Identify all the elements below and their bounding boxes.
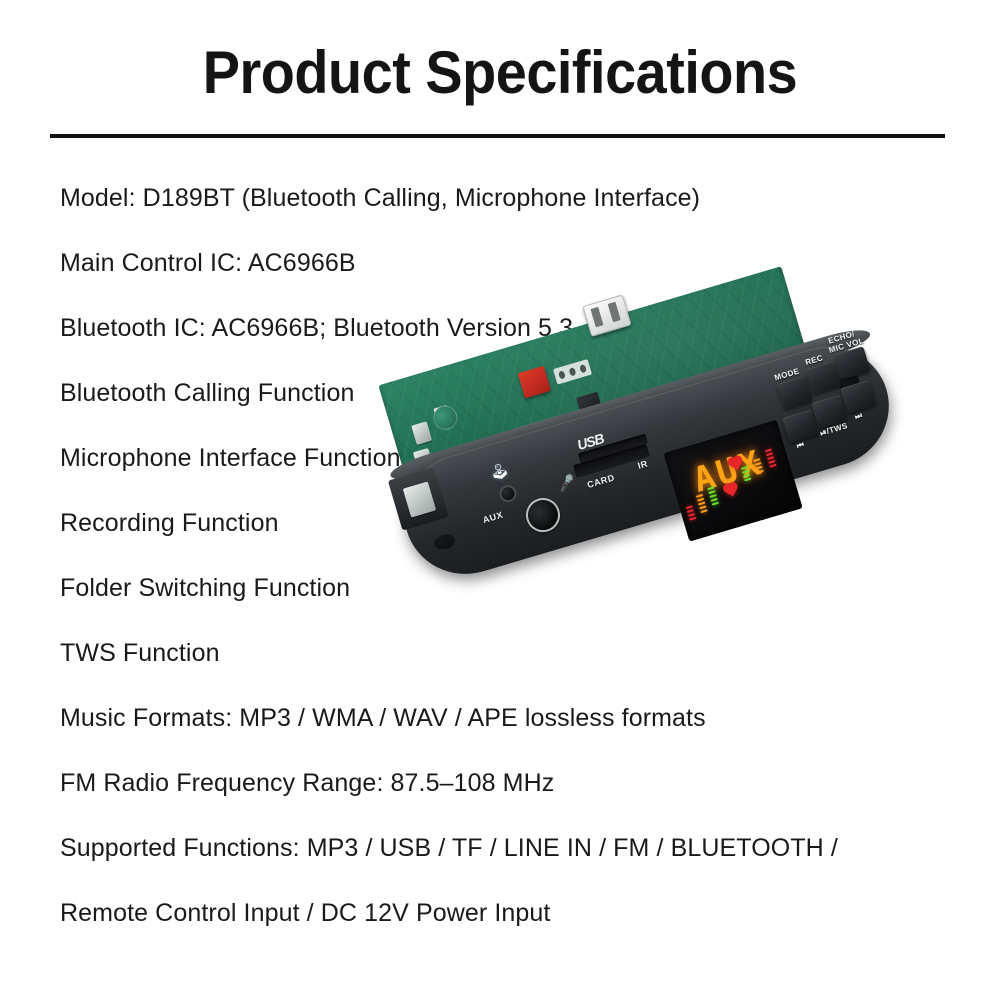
bluetooth-icon: 🕹 <box>488 462 511 482</box>
page-title: Product Specifications <box>35 38 965 107</box>
spec-line-supported-1: Supported Functions: MP3 / USB / TF / LI… <box>60 816 960 881</box>
card-label: CARD <box>586 472 616 490</box>
microphone-icon: 🎤 <box>556 474 577 492</box>
product-specifications-page: Product Specifications Model: D189BT (Bl… <box>0 0 1000 1000</box>
decoder-board: 🕹 AUX 🎤 CARD IR USB AUX <box>358 219 962 721</box>
indicator-icon <box>725 484 737 496</box>
previous-track-button[interactable] <box>782 410 818 443</box>
mode-button[interactable] <box>776 376 812 409</box>
rec-button[interactable] <box>805 361 841 394</box>
mounting-hole-left <box>432 530 458 552</box>
spec-line-fm-range: FM Radio Frequency Range: 87.5–108 MHz <box>60 751 960 816</box>
spec-line-supported-2: Remote Control Input / DC 12V Power Inpu… <box>60 881 960 946</box>
previous-track-label: ⏮ <box>796 441 806 451</box>
vu-bar <box>765 448 777 469</box>
spec-line-model: Model: D189BT (Bluetooth Calling, Microp… <box>60 166 960 231</box>
aux-label: AUX <box>482 510 505 525</box>
microphone-jack <box>522 494 564 536</box>
next-track-label: ⏭ <box>854 411 864 421</box>
title-divider <box>50 134 945 138</box>
vu-bar <box>686 505 697 522</box>
led-display: AUX <box>663 420 802 542</box>
product-image: 🕹 AUX 🎤 CARD IR USB AUX <box>400 285 920 655</box>
aux-jack <box>497 483 518 504</box>
ir-label: IR <box>637 458 650 470</box>
